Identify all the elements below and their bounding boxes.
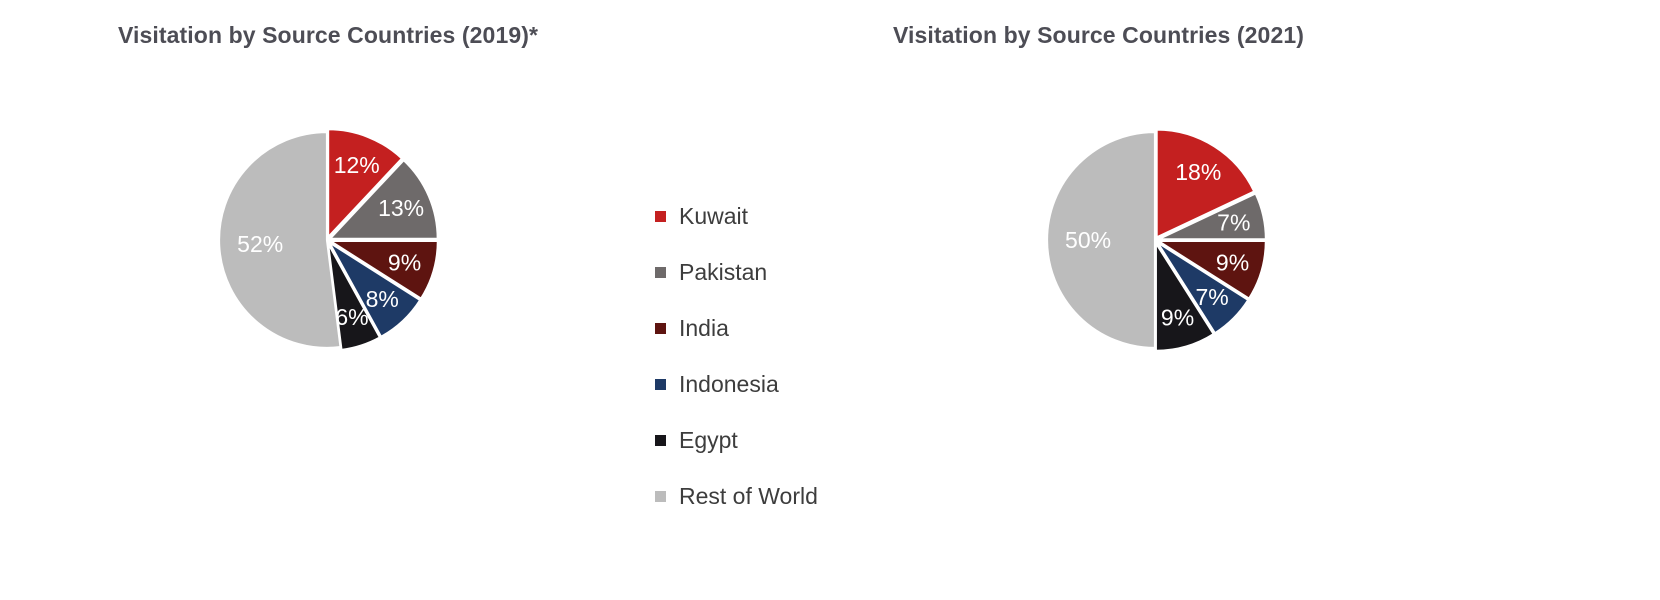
pie-slice-value-label: 7% <box>1217 209 1250 235</box>
page-title-2021: Visitation by Source Countries (2021) <box>893 22 1304 49</box>
legend-item-label: Kuwait <box>679 205 748 228</box>
legend-swatch-india <box>655 323 666 334</box>
legend-swatch-rest-of-world <box>655 491 666 502</box>
pie-slice-value-label: 18% <box>1175 159 1221 185</box>
pie-slice-value-label: 7% <box>1195 284 1228 310</box>
pie-slice-value-label: 6% <box>335 304 368 330</box>
legend-item-label: India <box>679 317 729 340</box>
legend-item-label: Pakistan <box>679 261 767 284</box>
legend-item-label: Egypt <box>679 429 738 452</box>
legend-item-label: Rest of World <box>679 485 818 508</box>
legend-swatch-indonesia <box>655 379 666 390</box>
pie-slice-value-label: 13% <box>378 195 424 221</box>
legend-item-label: Indonesia <box>679 373 779 396</box>
legend-swatch-pakistan <box>655 267 666 278</box>
pie-slice-rest-of-world[interactable]: 50% <box>1047 132 1155 348</box>
legend-item-kuwait[interactable]: Kuwait <box>655 188 870 244</box>
page-title-2019: Visitation by Source Countries (2019)* <box>118 22 538 49</box>
legend-item-india[interactable]: India <box>655 300 870 356</box>
chart-legend: KuwaitPakistanIndiaIndonesiaEgyptRest of… <box>655 188 870 524</box>
legend-item-rest-of-world[interactable]: Rest of World <box>655 468 870 524</box>
pie-slice-value-label: 9% <box>1216 250 1249 276</box>
pie-slice-value-label: 50% <box>1065 227 1111 253</box>
legend-swatch-egypt <box>655 435 666 446</box>
legend-item-pakistan[interactable]: Pakistan <box>655 244 870 300</box>
pie-slice-value-label: 8% <box>366 286 399 312</box>
pie-slice-rest-of-world[interactable]: 52% <box>219 132 341 348</box>
legend-item-egypt[interactable]: Egypt <box>655 412 870 468</box>
chart-canvas: Visitation by Source Countries (2019)* V… <box>0 0 1660 600</box>
legend-swatch-kuwait <box>655 211 666 222</box>
legend-item-indonesia[interactable]: Indonesia <box>655 356 870 412</box>
pie-slice-value-label: 52% <box>237 231 283 257</box>
pie-slice-value-label: 9% <box>1161 305 1194 331</box>
pie-slice-value-label: 12% <box>334 152 380 178</box>
pie-svg-2019: 12%13%9%8%6%52% <box>177 90 477 390</box>
pie-svg-2021: 18%7%9%7%9%50% <box>1005 90 1305 390</box>
pie-slice-value-label: 9% <box>388 250 421 276</box>
